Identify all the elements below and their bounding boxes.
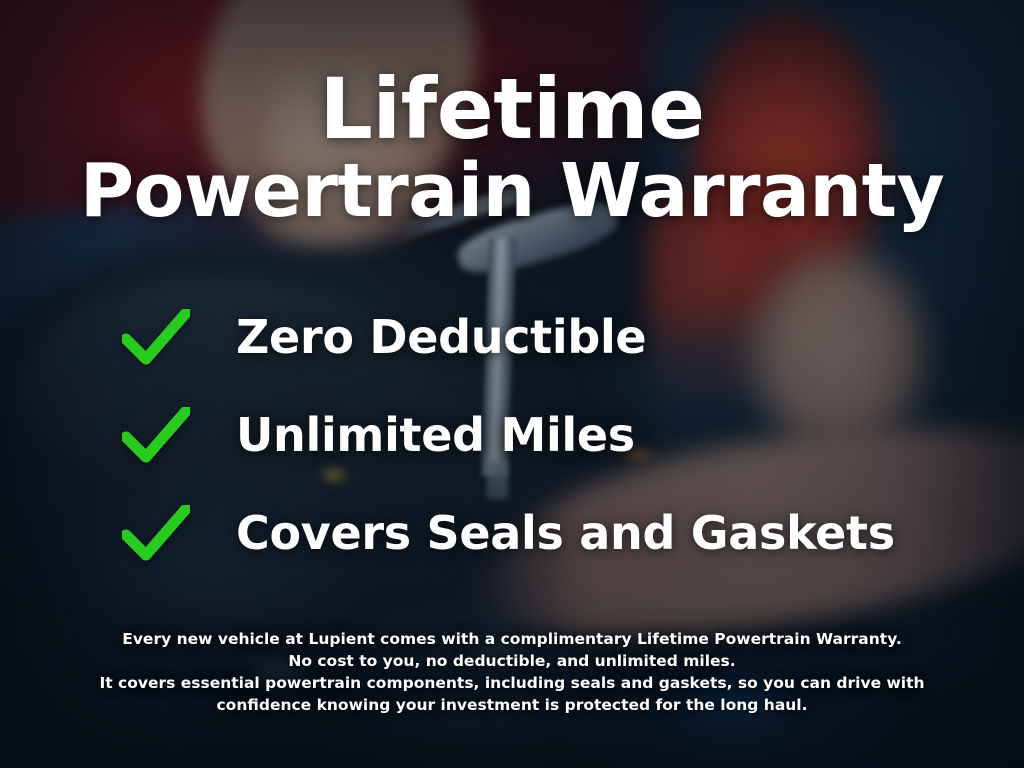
benefit-label: Unlimited Miles [236, 408, 635, 462]
check-icon [122, 309, 196, 365]
benefit-item-covers-seals-and-gaskets: Covers Seals and Gaskets [122, 484, 962, 582]
banner-content: Lifetime Powertrain Warranty Zero Deduct… [0, 0, 1024, 768]
check-icon [122, 505, 196, 561]
page-title: Lifetime Powertrain Warranty [0, 69, 1024, 227]
lifetime-powertrain-warranty-banner: Lifetime Powertrain Warranty Zero Deduct… [0, 0, 1024, 768]
benefit-label: Zero Deductible [236, 310, 646, 364]
benefit-label: Covers Seals and Gaskets [236, 506, 895, 560]
headline-line-2: Powertrain Warranty [0, 156, 1024, 227]
description-paragraph: Every new vehicle at Lupient comes with … [0, 628, 1024, 716]
benefit-item-zero-deductible: Zero Deductible [122, 288, 962, 386]
description-line: confidence knowing your investment is pr… [0, 694, 1024, 716]
description-line: No cost to you, no deductible, and unlim… [0, 650, 1024, 672]
description-line: Every new vehicle at Lupient comes with … [0, 628, 1024, 650]
headline-line-1: Lifetime [0, 69, 1024, 150]
benefit-item-unlimited-miles: Unlimited Miles [122, 386, 962, 484]
description-line: It covers essential powertrain component… [0, 672, 1024, 694]
benefits-list: Zero Deductible Unlimited Miles Covers S… [122, 288, 962, 582]
check-icon [122, 407, 196, 463]
